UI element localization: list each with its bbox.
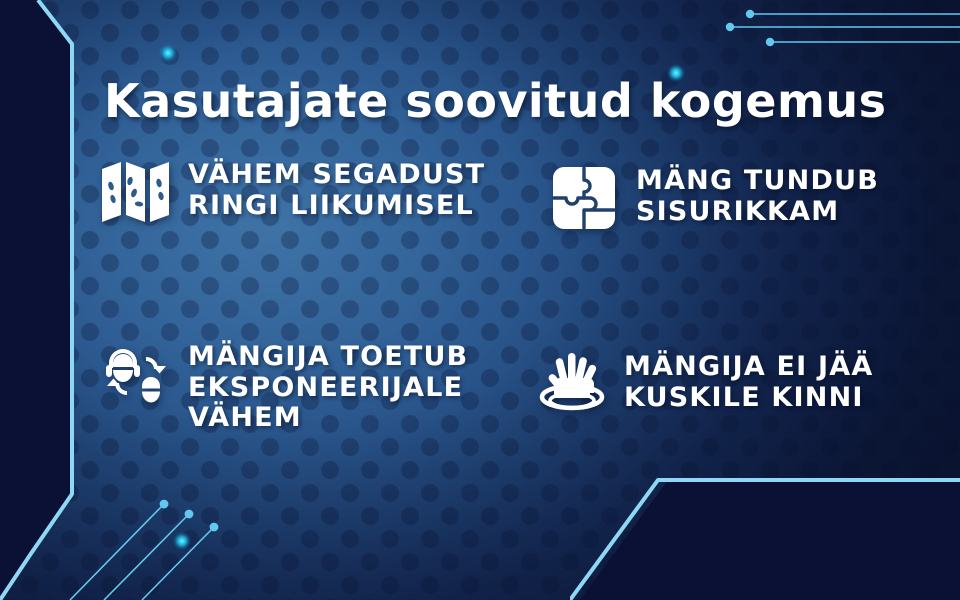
slide-canvas: Kasutajate soovitud kogemus <box>0 0 960 600</box>
feature-item-player-never-gets-stuck: MÄNGIJA EI JÄÄ KUSKILE KINNI <box>520 330 920 480</box>
feature-item-less-reliance-on-exhibitor: MÄNGIJA TOETUB EKSPONEERIJALE VÄHEM <box>100 330 520 480</box>
hand-stuck-in-hole-icon <box>536 348 608 420</box>
feature-item-game-feels-richer: MÄNG TUNDUB SISURIKKAM <box>520 150 920 330</box>
page-title: Kasutajate soovitud kogemus <box>104 74 887 128</box>
feature-label: MÄNGIJA TOETUB EKSPONEERIJALE VÄHEM <box>188 338 518 434</box>
folded-map-icon <box>100 156 172 228</box>
feature-label: VÄHEM SEGADUST RINGI LIIKUMISEL <box>188 156 518 221</box>
headset-people-exchange-icon <box>100 338 172 410</box>
slide-content: Kasutajate soovitud kogemus <box>0 0 960 600</box>
feature-label: MÄNG TUNDUB SISURIKKAM <box>636 162 920 227</box>
feature-grid: VÄHEM SEGADUST RINGI LIIKUMISEL M <box>100 150 920 480</box>
feature-label: MÄNGIJA EI JÄÄ KUSKILE KINNI <box>624 348 920 413</box>
puzzle-pieces-icon <box>548 162 620 234</box>
feature-item-less-confusion-navigating: VÄHEM SEGADUST RINGI LIIKUMISEL <box>100 150 520 330</box>
